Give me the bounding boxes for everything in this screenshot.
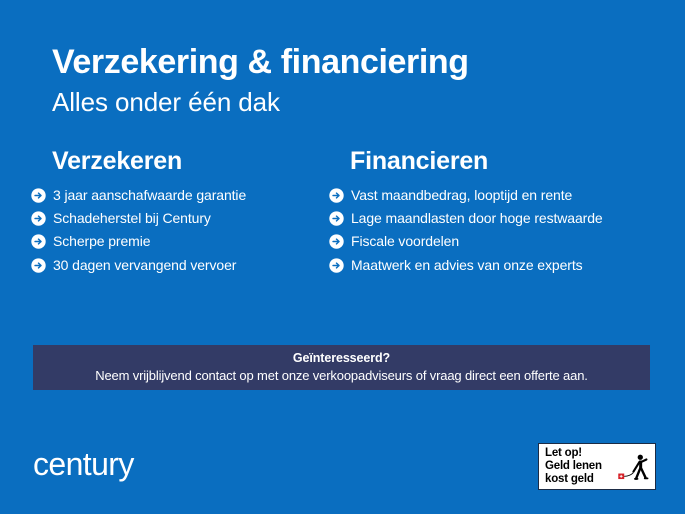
- cta-text: Neem vrijblijvend contact op met onze ve…: [95, 368, 588, 384]
- column-financieren: Financieren Vast maandbedrag, looptijd e…: [350, 148, 648, 281]
- list-item-label: Vast maandbedrag, looptijd en rente: [351, 188, 572, 203]
- century-logo: century: [33, 448, 134, 480]
- cta-title: Geïnteresseerd?: [293, 351, 390, 367]
- arrow-right-circle-icon: [31, 258, 46, 273]
- column-verzekeren: Verzekeren 3 jaar aanschafwaarde garanti…: [52, 148, 350, 281]
- feature-columns: Verzekeren 3 jaar aanschafwaarde garanti…: [52, 148, 672, 281]
- list-item-label: 3 jaar aanschafwaarde garantie: [53, 188, 246, 203]
- cta-banner: Geïnteresseerd? Neem vrijblijvend contac…: [33, 345, 650, 390]
- walking-figure-pulling-block-icon: [617, 451, 651, 485]
- list-item-label: Scherpe premie: [53, 234, 150, 249]
- list-item-label: Lage maandlasten door hoge restwaarde: [351, 211, 603, 226]
- arrow-right-circle-icon: [329, 211, 344, 226]
- arrow-right-circle-icon: [329, 258, 344, 273]
- list-item-label: Maatwerk en advies van onze experts: [351, 258, 583, 273]
- bullet-list-verzekeren: 3 jaar aanschafwaarde garantie Schadeher…: [31, 188, 350, 274]
- list-item: Schadeherstel bij Century: [31, 211, 350, 226]
- arrow-right-circle-icon: [329, 234, 344, 249]
- arrow-right-circle-icon: [329, 188, 344, 203]
- page-subtitle: Alles onder één dak: [52, 87, 652, 118]
- list-item-label: 30 dagen vervangend vervoer: [53, 258, 236, 273]
- warning-line-3-row: kost geld: [545, 473, 602, 486]
- warning-line-2: Geld lenen: [545, 460, 602, 473]
- warning-line-1: Let op!: [545, 447, 602, 460]
- list-item: Scherpe premie: [31, 234, 350, 249]
- warning-line-3: kost geld: [545, 473, 594, 486]
- list-item: Fiscale voordelen: [329, 234, 648, 249]
- bullet-list-financieren: Vast maandbedrag, looptijd en rente Lage…: [329, 188, 648, 274]
- credit-warning-box: Let op! Geld lenen kost geld: [538, 443, 656, 490]
- arrow-right-circle-icon: [31, 234, 46, 249]
- column-heading: Verzekeren: [52, 148, 350, 176]
- list-item: 3 jaar aanschafwaarde garantie: [31, 188, 350, 203]
- list-item: Vast maandbedrag, looptijd en rente: [329, 188, 648, 203]
- arrow-right-circle-icon: [31, 211, 46, 226]
- list-item: 30 dagen vervangend vervoer: [31, 258, 350, 273]
- list-item: Maatwerk en advies van onze experts: [329, 258, 648, 273]
- page-title: Verzekering & financiering: [52, 45, 652, 81]
- header: Verzekering & financiering Alles onder é…: [52, 45, 652, 118]
- list-item-label: Fiscale voordelen: [351, 234, 459, 249]
- slide-root: Verzekering & financiering Alles onder é…: [0, 0, 685, 514]
- warning-text-block: Let op! Geld lenen kost geld: [545, 447, 602, 486]
- column-heading: Financieren: [350, 148, 648, 176]
- arrow-right-circle-icon: [31, 188, 46, 203]
- list-item: Lage maandlasten door hoge restwaarde: [329, 211, 648, 226]
- list-item-label: Schadeherstel bij Century: [53, 211, 211, 226]
